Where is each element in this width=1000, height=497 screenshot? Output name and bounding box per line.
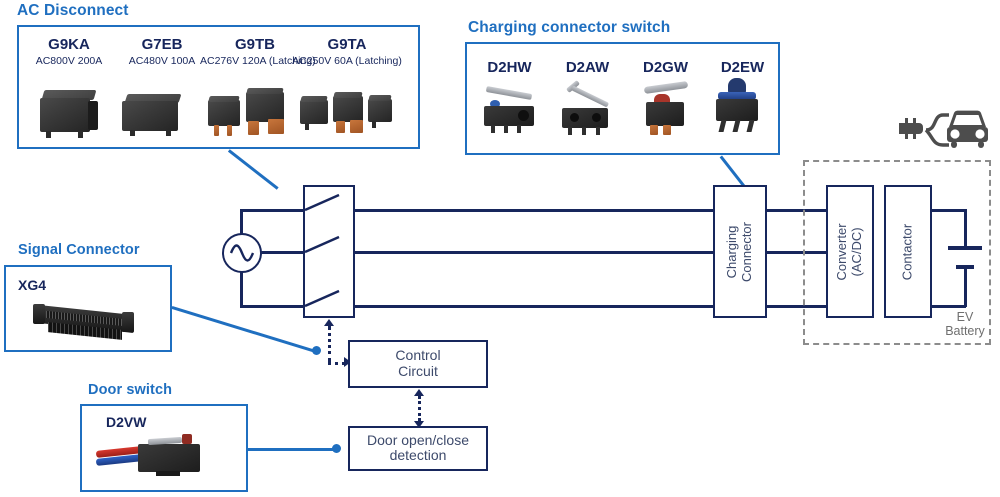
part-name-g9ta: G9TA [297,36,397,53]
ev-battery-label: EV Battery [930,310,1000,338]
part-name-xg4: XG4 [18,277,78,293]
contactor-label: Contactor [901,223,916,279]
arrow-to-switch [324,319,334,326]
door-detection-label: Door open/close detection [367,433,469,465]
group-title-signal-connector: Signal Connector [18,242,140,258]
ac-source-symbol [222,233,262,273]
part-name-g9ka: G9KA [19,36,119,53]
dotted-line-switch-control [328,326,331,362]
part-name-d2gw: D2GW [628,59,703,76]
battery-plate-short [956,265,974,269]
wire-batt-bottom [930,305,966,308]
group-title-charging-connector-switch: Charging connector switch [468,19,670,37]
product-photo-d2gw [640,80,694,138]
part-name-g9tb: G9TB [205,36,305,53]
leader-line-door-switch [248,448,336,451]
product-photo-g7eb [122,94,184,140]
converter-box[interactable]: Converter (AC/DC) [826,185,874,318]
contactor-box[interactable]: Contactor [884,185,932,318]
wire-source-bottom [240,305,305,308]
charging-connector-box[interactable]: Charging Connector [713,185,767,318]
part-spec-g9ta: AC250V 60A (Latching) [292,56,402,68]
control-circuit-label: Control Circuit [395,348,440,380]
disconnect-switch-blades [303,185,355,318]
product-photo-d2hw [482,88,540,138]
leader-line-ac-disconnect [228,149,278,189]
converter-label: Converter (AC/DC) [835,223,865,280]
product-photo-d2ew [712,78,768,138]
group-title-door-switch: Door switch [88,382,172,398]
charging-connector-label: Charging Connector [725,222,755,282]
control-circuit-box[interactable]: Control Circuit [348,340,488,388]
wire-batt-top [930,209,966,212]
wire-line3 [353,305,715,308]
group-title-ac-disconnect: AC Disconnect [17,2,129,20]
part-name-g7eb: G7EB [112,36,212,53]
wire-line1 [353,209,715,212]
product-photo-g9ka [40,90,100,140]
product-photo-d2aw [560,82,616,138]
dotted-line-to-control-circuit [328,362,345,365]
leader-dot-door-switch [332,444,341,453]
ev-charging-icon [893,103,989,157]
part-name-d2vw: D2VW [106,414,166,430]
product-photo-g9ta [300,90,396,140]
wire-source-left [240,209,243,235]
wire-source-mid [260,251,305,254]
product-photo-xg4 [32,300,142,344]
wire-source-top [240,209,305,212]
wire-line2 [353,251,715,254]
product-photo-g9tb [208,88,298,140]
dotted-line-control-door [418,396,421,421]
arrow-up-control-circuit [414,389,424,396]
diagram-canvas: AC Disconnect G9KA AC800V 200A G7EB AC48… [0,0,1000,497]
part-name-d2aw: D2AW [550,59,625,76]
part-name-d2hw: D2HW [472,59,547,76]
door-detection-box[interactable]: Door open/close detection [348,426,488,471]
wire-source-left-lower [240,271,243,307]
wire-batt-right-top [964,209,967,247]
product-photo-d2vw [96,434,216,486]
wire-batt-right-bottom [964,267,967,307]
leader-line-signal-connector [172,306,314,352]
battery-plate-long [948,246,982,250]
part-name-d2ew: D2EW [705,59,780,76]
leader-dot-signal-connector [312,346,321,355]
